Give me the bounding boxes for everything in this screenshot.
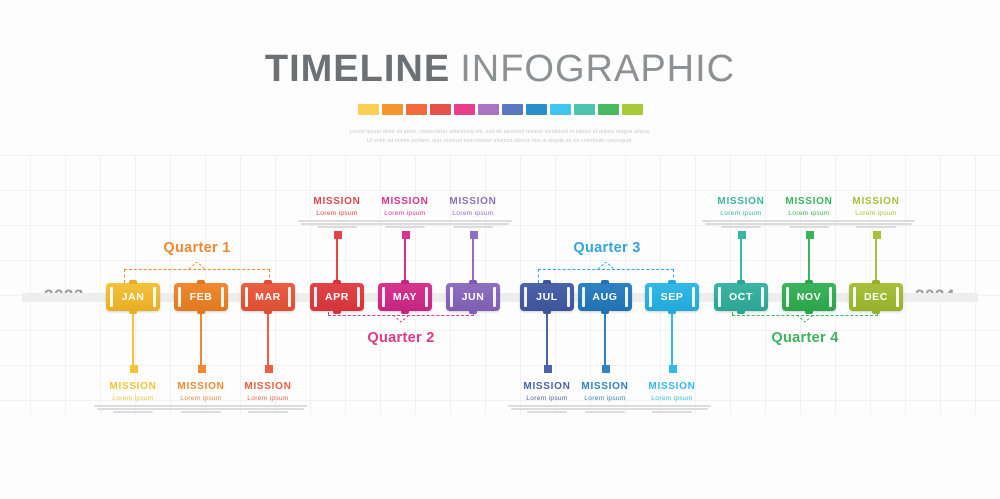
connector-node-may — [402, 231, 410, 239]
chip-top-tab — [129, 280, 137, 284]
connector-node-feb — [198, 365, 206, 373]
bracket-left-end — [538, 269, 539, 283]
placeholder-line — [636, 408, 708, 410]
page-title: TIMELINEINFOGRAPHIC — [0, 50, 1000, 88]
month-chip-jul[interactable]: JUL — [520, 283, 574, 311]
month-chip-label: AUG — [592, 291, 617, 303]
chip-top-tab — [805, 280, 813, 284]
placeholder-line — [385, 226, 425, 228]
connector-node-mar — [265, 365, 273, 373]
mission-placeholder-lines — [624, 405, 720, 413]
chip-bottom-tab — [469, 310, 477, 314]
mission-block-jun: MISSIONLorem ipsum — [425, 196, 521, 230]
mission-title: MISSION — [624, 381, 720, 392]
quarter-label-2: Quarter 2 — [321, 330, 481, 346]
chip-top-tab — [469, 280, 477, 284]
color-swatch-5 — [454, 104, 475, 115]
chip-top-tab — [543, 280, 551, 284]
bracket-caret-icon — [393, 315, 409, 323]
month-chip-label: FEB — [190, 291, 213, 303]
subtitle-line-1: Lorem ipsum dolor sit amet, consectetur … — [0, 128, 1000, 137]
chip-top-tab — [197, 280, 205, 284]
month-chip-label: OCT — [729, 291, 753, 303]
color-swatch-7 — [502, 104, 523, 115]
month-chip-jan[interactable]: JAN — [106, 283, 160, 311]
month-chip-label: MAR — [255, 291, 281, 303]
chip-top-tab — [333, 280, 341, 284]
month-chip-jun[interactable]: JUN — [446, 283, 500, 311]
chip-bottom-tab — [601, 310, 609, 314]
mission-placeholder-lines — [220, 405, 316, 413]
mission-title: MISSION — [425, 196, 521, 207]
color-swatch-9 — [550, 104, 571, 115]
connector-stem-jul — [546, 311, 548, 369]
month-chip-nov[interactable]: NOV — [782, 283, 836, 311]
chip-bottom-tab — [197, 310, 205, 314]
placeholder-line — [840, 223, 912, 225]
connector-node-sep — [669, 365, 677, 373]
month-chip-aug[interactable]: AUG — [578, 283, 632, 311]
mission-subtitle: Lorem ipsum — [624, 395, 720, 402]
placeholder-line — [633, 405, 711, 407]
connector-stem-sep — [671, 311, 673, 369]
title-bold: TIMELINE — [265, 48, 450, 90]
mission-title: MISSION — [828, 196, 924, 207]
chip-top-tab — [401, 280, 409, 284]
chip-top-tab — [737, 280, 745, 284]
quarter-label-4: Quarter 4 — [725, 330, 885, 346]
month-chip-apr[interactable]: APR — [310, 283, 364, 311]
connector-node-jun — [470, 231, 478, 239]
mission-subtitle: Lorem ipsum — [828, 210, 924, 217]
month-chip-mar[interactable]: MAR — [241, 283, 295, 311]
chip-top-tab — [872, 280, 880, 284]
chip-bottom-tab — [872, 310, 880, 314]
connector-node-nov — [806, 231, 814, 239]
placeholder-line — [721, 226, 761, 228]
color-swatch-6 — [478, 104, 499, 115]
month-chip-label: JAN — [122, 291, 145, 303]
chip-top-tab — [668, 280, 676, 284]
connector-stem-oct — [740, 235, 742, 283]
chip-bottom-tab — [129, 310, 137, 314]
placeholder-line — [232, 408, 304, 410]
mission-block-dec: MISSIONLorem ipsum — [828, 196, 924, 230]
mission-title: MISSION — [220, 381, 316, 392]
placeholder-line — [437, 223, 509, 225]
month-chip-label: MAY — [393, 291, 417, 303]
connector-stem-aug — [604, 311, 606, 369]
month-chip-label: SEP — [661, 291, 684, 303]
placeholder-line — [585, 411, 625, 413]
mission-block-mar: MISSIONLorem ipsum — [220, 381, 316, 415]
chip-bottom-tab — [668, 310, 676, 314]
chip-bottom-tab — [805, 310, 813, 314]
connector-stem-dec — [875, 235, 877, 283]
connector-stem-feb — [200, 311, 202, 369]
placeholder-line — [229, 405, 307, 407]
month-chip-oct[interactable]: OCT — [714, 283, 768, 311]
color-swatch-10 — [574, 104, 595, 115]
color-swatch-2 — [382, 104, 403, 115]
chip-bottom-tab — [264, 310, 272, 314]
color-swatch-1 — [358, 104, 379, 115]
mission-subtitle: Lorem ipsum — [220, 395, 316, 402]
bracket-left-end — [124, 269, 125, 283]
color-swatch-3 — [406, 104, 427, 115]
month-chip-label: JUL — [536, 291, 558, 303]
placeholder-line — [317, 226, 357, 228]
connector-node-dec — [873, 231, 881, 239]
placeholder-line — [652, 411, 692, 413]
color-swatch-strip — [0, 104, 1000, 115]
mission-subtitle: Lorem ipsum — [425, 210, 521, 217]
color-swatch-4 — [430, 104, 451, 115]
chip-bottom-tab — [333, 310, 341, 314]
month-chip-sep[interactable]: SEP — [645, 283, 699, 311]
placeholder-line — [434, 220, 512, 222]
connector-stem-jan — [132, 311, 134, 369]
connector-stem-nov — [808, 235, 810, 283]
connector-stem-apr — [336, 235, 338, 283]
connector-stem-may — [404, 235, 406, 283]
placeholder-line — [248, 411, 288, 413]
connector-stem-jun — [472, 235, 474, 283]
chip-bottom-tab — [543, 310, 551, 314]
placeholder-line — [453, 226, 493, 228]
connector-node-aug — [602, 365, 610, 373]
placeholder-line — [856, 226, 896, 228]
month-chip-feb[interactable]: FEB — [174, 283, 228, 311]
month-chip-label: JUN — [462, 291, 485, 303]
month-chip-label: DEC — [864, 291, 888, 303]
chip-top-tab — [601, 280, 609, 284]
month-chip-label: APR — [325, 291, 349, 303]
quarter-label-1: Quarter 1 — [117, 240, 277, 256]
connector-node-apr — [334, 231, 342, 239]
header: TIMELINEINFOGRAPHIC Lorem ipsum dolor si… — [0, 0, 1000, 146]
bracket-caret-icon — [598, 262, 614, 270]
connector-stem-mar — [267, 311, 269, 369]
infographic-canvas: TIMELINEINFOGRAPHIC Lorem ipsum dolor si… — [0, 0, 1000, 499]
connector-node-jul — [544, 365, 552, 373]
bracket-caret-icon — [797, 315, 813, 323]
color-swatch-8 — [526, 104, 547, 115]
chip-top-tab — [264, 280, 272, 284]
connector-node-oct — [738, 231, 746, 239]
color-swatch-11 — [598, 104, 619, 115]
month-chip-label: NOV — [797, 291, 822, 303]
subtitle-line-2: Ut enim ad minim veniam, quis nostrud ex… — [0, 137, 1000, 146]
placeholder-line — [181, 411, 221, 413]
placeholder-line — [789, 226, 829, 228]
subtitle: Lorem ipsum dolor sit amet, consectetur … — [0, 128, 1000, 146]
month-chip-dec[interactable]: DEC — [849, 283, 903, 311]
placeholder-line — [113, 411, 153, 413]
chip-bottom-tab — [401, 310, 409, 314]
chip-bottom-tab — [737, 310, 745, 314]
mission-block-sep: MISSIONLorem ipsum — [624, 381, 720, 415]
color-swatch-12 — [622, 104, 643, 115]
month-chip-may[interactable]: MAY — [378, 283, 432, 311]
quarter-label-3: Quarter 3 — [527, 240, 687, 256]
mission-placeholder-lines — [828, 220, 924, 228]
placeholder-line — [837, 220, 915, 222]
connector-node-jan — [130, 365, 138, 373]
title-light: INFOGRAPHIC — [460, 48, 735, 90]
mission-placeholder-lines — [425, 220, 521, 228]
bracket-caret-icon — [189, 262, 205, 270]
